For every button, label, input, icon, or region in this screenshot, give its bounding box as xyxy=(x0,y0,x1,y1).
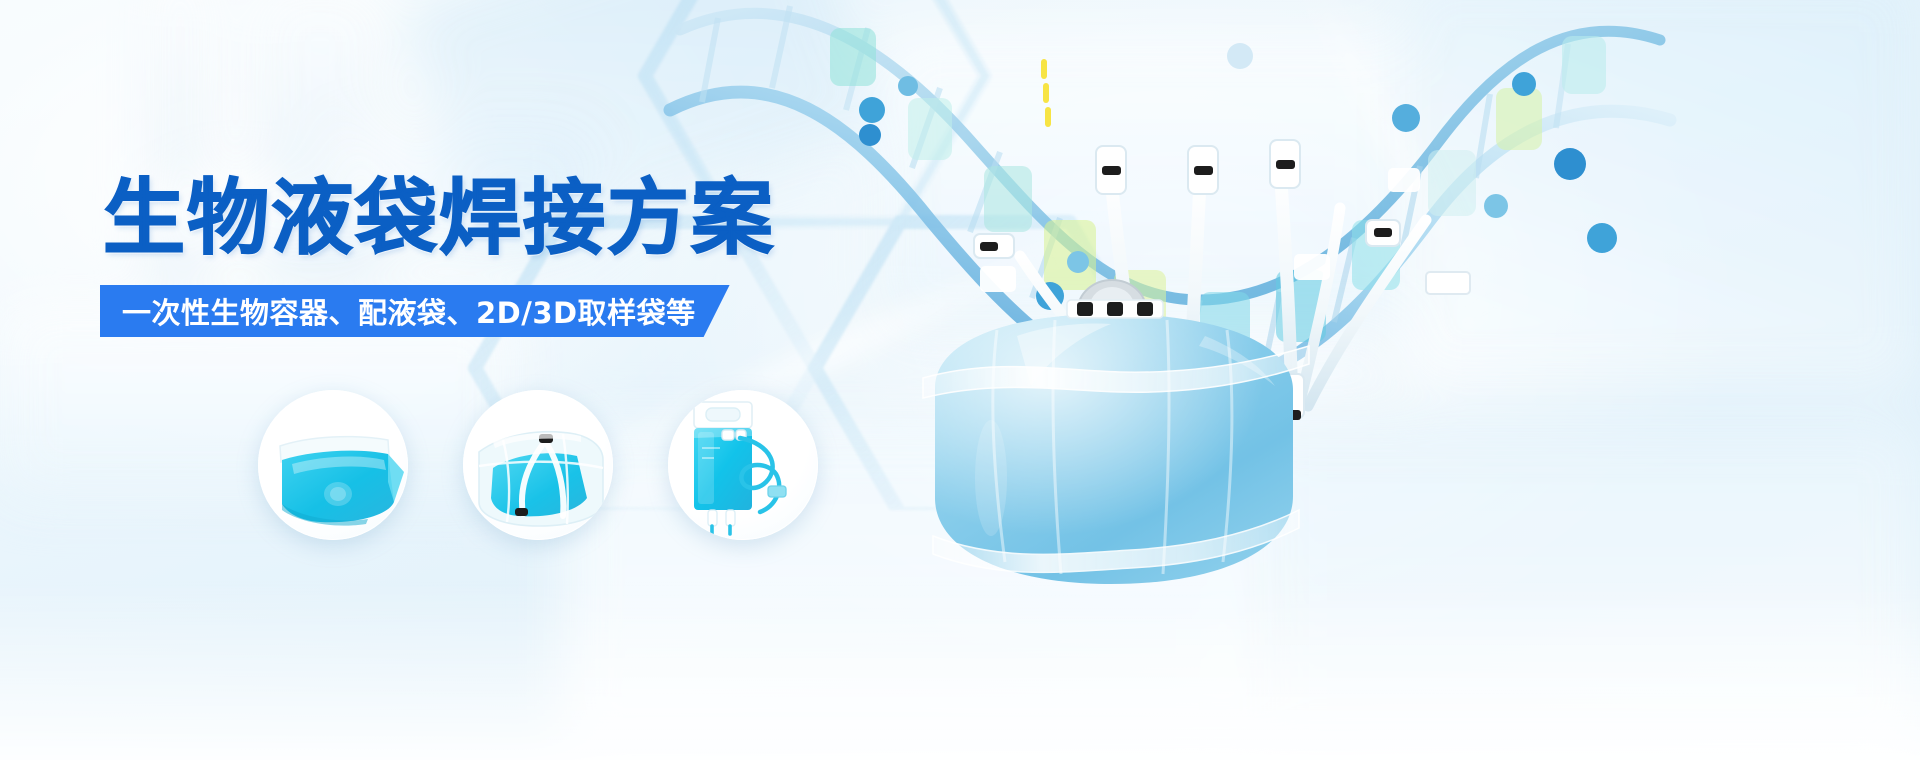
product-banner: 生物液袋焊接方案 一次性生物容器、配液袋、2D/3D取样袋等 xyxy=(0,0,1920,760)
product-thumbnail-3[interactable] xyxy=(668,390,818,540)
3d-bioprocess-bag-icon xyxy=(905,300,1325,600)
product-thumbnail-group xyxy=(258,390,858,570)
subtitle-text: 一次性生物容器、配液袋、2D/3D取样袋等 xyxy=(122,290,696,332)
product-thumbnail-2[interactable] xyxy=(463,390,613,540)
subtitle-ribbon-bar: 一次性生物容器、配液袋、2D/3D取样袋等 xyxy=(100,285,730,337)
subtitle-ribbon: 一次性生物容器、配液袋、2D/3D取样袋等 xyxy=(100,285,730,337)
product-thumbnail-1[interactable] xyxy=(258,390,408,540)
handle-infusion-bag-icon xyxy=(668,390,818,540)
tubing-bag-icon xyxy=(463,390,613,540)
page-title: 生物液袋焊接方案 xyxy=(103,178,775,260)
flat-liquid-bag-icon xyxy=(258,390,408,540)
